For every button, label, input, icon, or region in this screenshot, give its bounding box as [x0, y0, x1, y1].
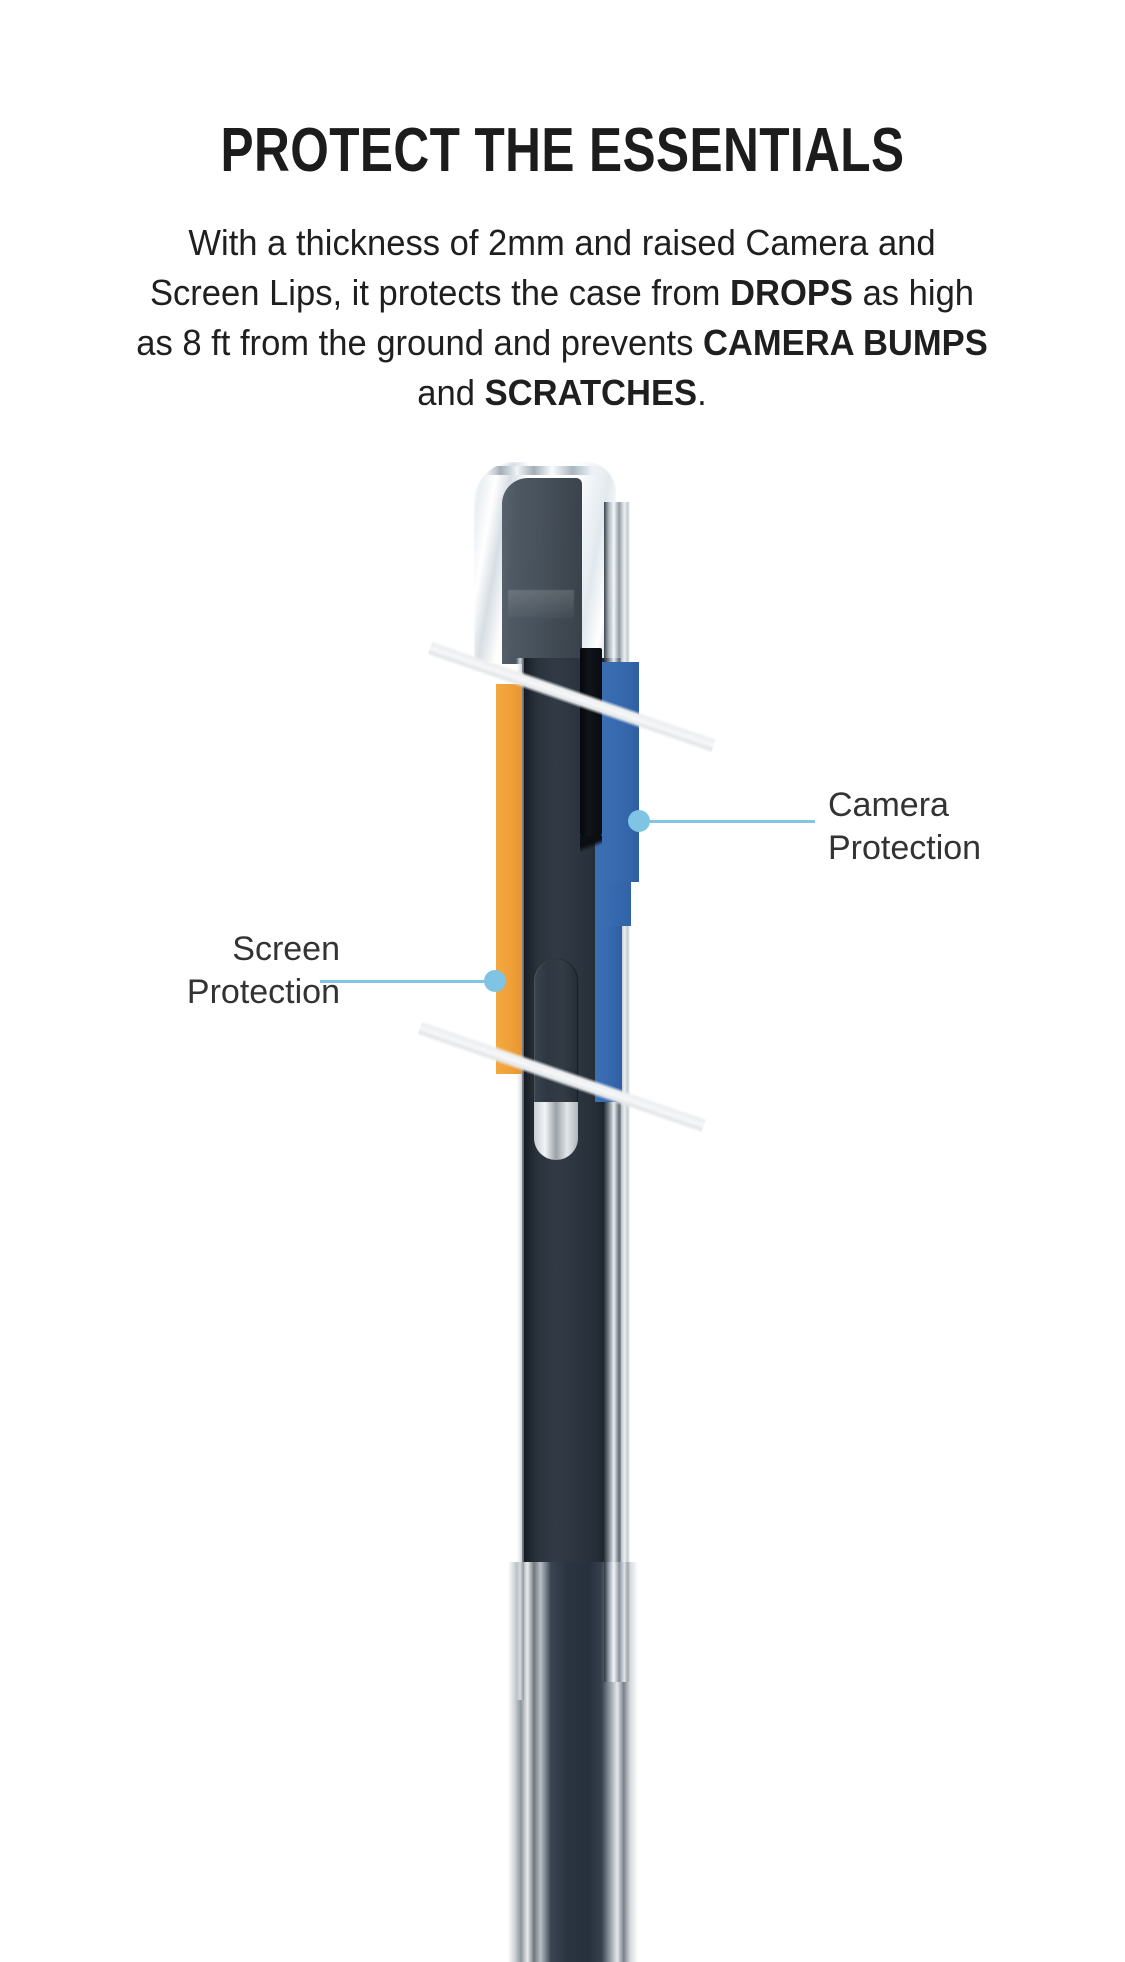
- camera-bump-step: [595, 882, 631, 926]
- camera-recess: [580, 648, 602, 842]
- camera-label-line-2: Protection: [828, 827, 1088, 870]
- screen-label-line-2: Protection: [40, 971, 340, 1014]
- screen-callout-leader-line: [320, 980, 495, 983]
- camera-protection-label: Camera Protection: [828, 784, 1088, 870]
- camera-callout-dot: [628, 810, 650, 832]
- product-illustration: Camera Protection Screen Protection: [0, 0, 1125, 1500]
- screen-callout-dot: [484, 970, 506, 992]
- camera-label-line-1: Camera: [828, 784, 1088, 827]
- screen-protection-highlight-strip: [496, 684, 522, 1074]
- phone-top-glass: [502, 478, 582, 664]
- camera-callout-leader-line: [640, 820, 815, 823]
- screen-protection-label: Screen Protection: [40, 928, 340, 1014]
- side-button-reflection: [534, 1102, 578, 1160]
- screen-label-line-1: Screen: [40, 928, 340, 971]
